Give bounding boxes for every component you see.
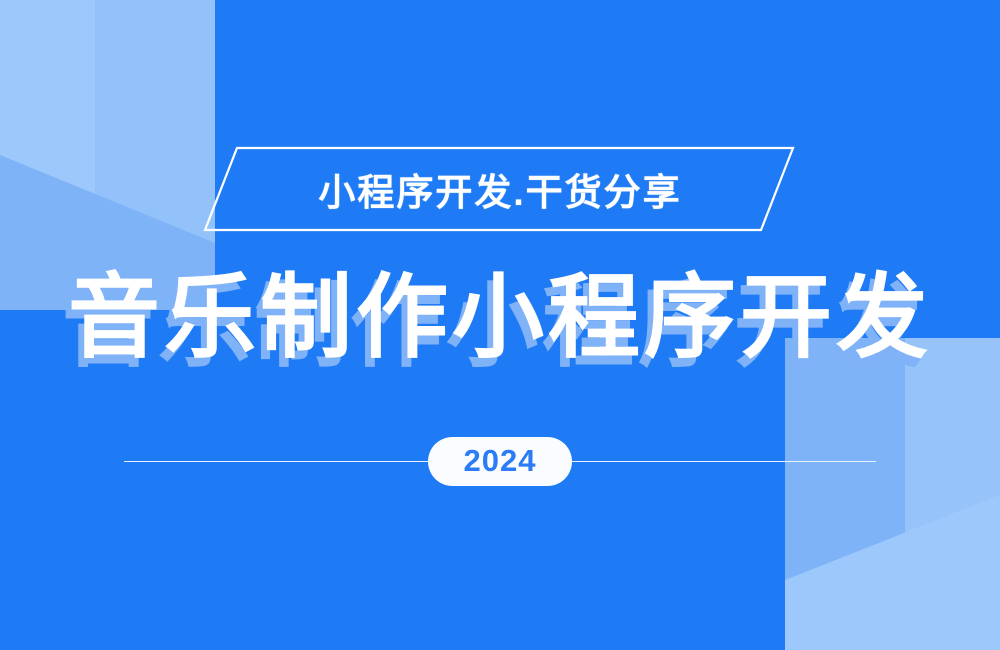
main-title-text: 音乐制作小程序开发 (0, 258, 1000, 378)
divider-line-left (124, 461, 434, 462)
decor-shape-right-chevron-bottom (785, 495, 1000, 650)
divider-line-right (566, 461, 876, 462)
promo-banner: 小程序开发.干货分享 音乐制作小程序开发 音乐制作小程序开发 2024 (0, 0, 1000, 650)
main-title: 音乐制作小程序开发 音乐制作小程序开发 (0, 258, 1000, 378)
year-divider-row: 2024 (0, 436, 1000, 486)
decor-shape-left-strip (95, 0, 215, 243)
decor-shape-left-chevron-top (0, 0, 215, 243)
subtitle-text: 小程序开发.干货分享 (205, 145, 795, 233)
year-badge: 2024 (428, 437, 572, 486)
subtitle-frame: 小程序开发.干货分享 (205, 145, 795, 233)
